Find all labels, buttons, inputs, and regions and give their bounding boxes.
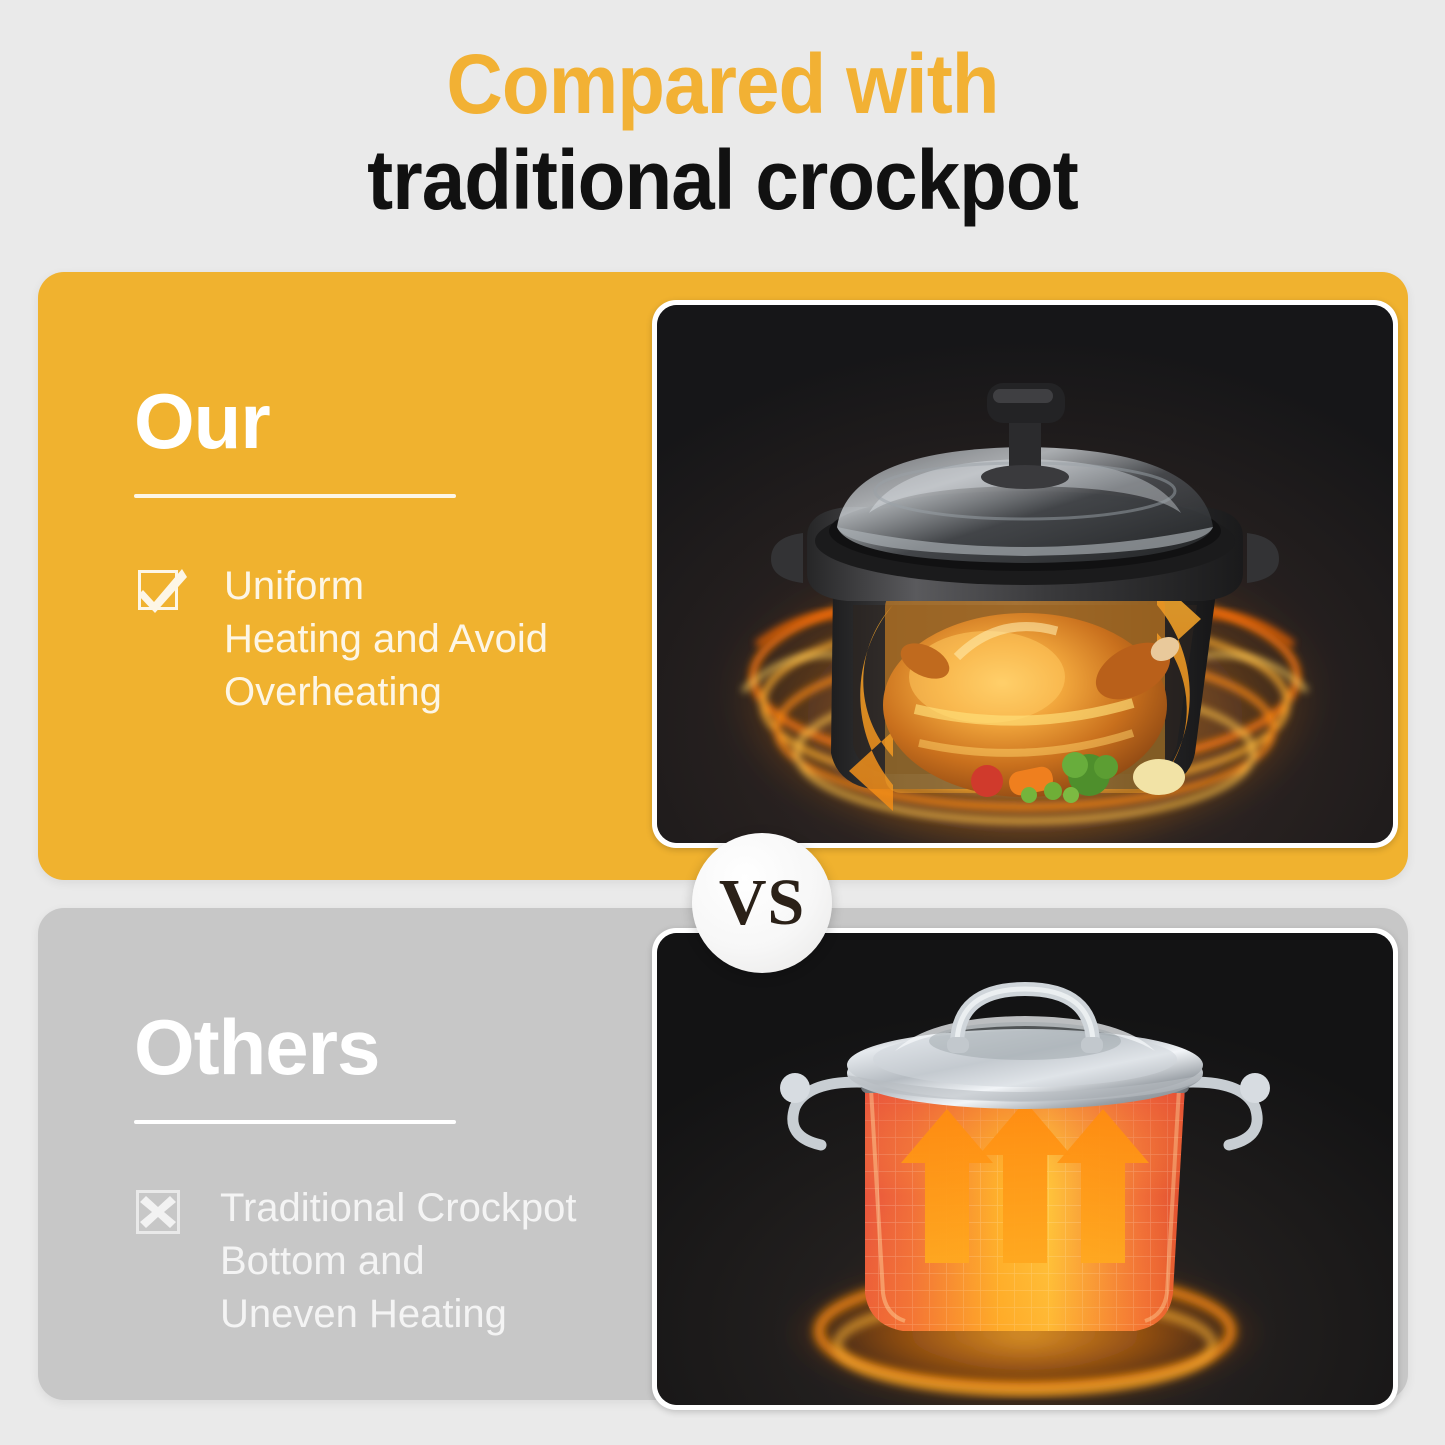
panel-our-heading: Our: [134, 382, 548, 460]
title-line-primary: Compared with: [51, 42, 1395, 128]
panel-our-divider: [134, 494, 456, 498]
panel-our-text-block: Our Uniform Heating and Avoid Overheatin…: [134, 382, 548, 718]
feature-text-others: Traditional Crockpot Bottom and Uneven H…: [220, 1182, 576, 1340]
panel-others-divider: [134, 1120, 456, 1124]
vs-badge: VS: [692, 833, 832, 973]
title-line-secondary: traditional crockpot: [51, 138, 1395, 224]
product-image-frame-others: [652, 928, 1398, 1410]
feature-row-our: Uniform Heating and Avoid Overheating: [134, 560, 548, 718]
vs-badge-label: VS: [719, 870, 805, 936]
feature-text-our: Uniform Heating and Avoid Overheating: [224, 560, 548, 718]
panel-others-text-block: Others Traditional Crockpot Bottom and U…: [134, 1008, 576, 1340]
checkbox-x-icon: [134, 1188, 186, 1240]
page-title: Compared with traditional crockpot: [0, 42, 1445, 223]
product-image-frame-our: [652, 300, 1398, 848]
checkbox-checked-icon: [134, 566, 186, 618]
feature-row-others: Traditional Crockpot Bottom and Uneven H…: [134, 1182, 576, 1340]
stainless-stockpot-bottom-only-heating: [657, 933, 1393, 1405]
panel-others-heading: Others: [134, 1008, 576, 1086]
slow-cooker-with-roast-chicken-all-around-heating: [657, 305, 1393, 843]
